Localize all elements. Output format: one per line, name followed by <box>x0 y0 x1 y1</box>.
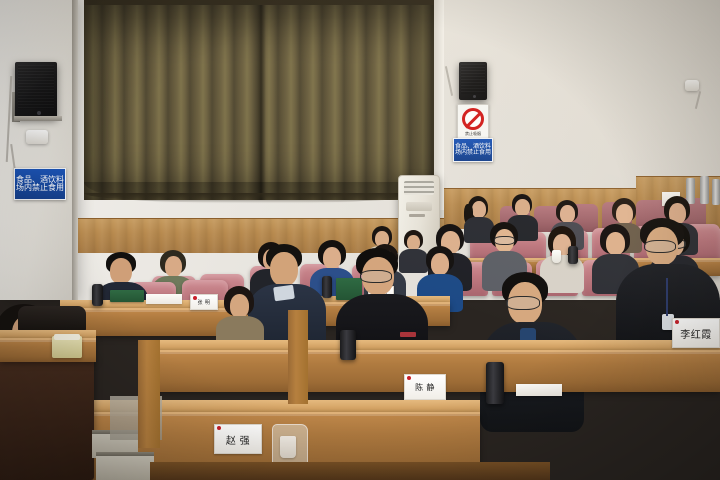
step-edge <box>96 452 154 456</box>
desk-edge-foreground <box>150 462 550 480</box>
head <box>270 252 298 286</box>
placard-emblem <box>193 296 197 300</box>
thermos-flask <box>686 178 695 204</box>
tissue-box-lid <box>54 334 80 340</box>
notepad <box>516 384 562 396</box>
lecture-hall-photo: 食品、酒饮料 场内禁止食用 禁止吸烟 食品、酒饮料 场内禁止食用 <box>0 0 720 480</box>
food-drink-prohibited-sign-left: 食品、酒饮料 场内禁止食用 <box>14 168 66 200</box>
placard-text: 张 明 <box>198 299 211 306</box>
head <box>616 204 633 224</box>
pillar-edge <box>72 0 78 300</box>
head <box>515 199 530 216</box>
desk-side-panel <box>138 340 160 448</box>
placard-emblem <box>217 426 221 430</box>
speaker-grill <box>461 64 485 94</box>
thermos-flask <box>700 176 709 204</box>
thermos-flask <box>340 330 356 360</box>
no-smoking-icon <box>462 108 484 130</box>
food-drink-prohibited-sign-right: 食品、酒饮料 场内禁止食用 <box>453 138 493 162</box>
name-placard-primary: 李红霞 <box>672 318 720 348</box>
head <box>230 294 249 318</box>
speaker-shelf-left <box>14 116 62 121</box>
floor-step <box>96 454 154 480</box>
lanyard-strap <box>666 278 668 316</box>
no-smoking-sign: 禁止吸烟 <box>457 104 489 139</box>
paper-cup <box>552 250 561 263</box>
eyeglasses <box>506 296 540 310</box>
thermos-flask <box>712 179 720 205</box>
wifi-access-point-right <box>685 80 699 91</box>
name-placard: 陈 静 <box>404 374 446 400</box>
desk-side-panel <box>288 310 308 404</box>
ac-logo <box>409 214 425 217</box>
no-smoking-caption: 禁止吸烟 <box>465 131 481 137</box>
head <box>560 205 575 223</box>
wall-speaker-right <box>459 62 487 100</box>
placard-emblem <box>407 376 411 380</box>
bench-back-dark <box>18 306 86 332</box>
paper-cup <box>280 436 296 458</box>
sign-line-2: 场内禁止食用 <box>16 184 64 192</box>
eyeglasses <box>644 240 676 253</box>
placard-text: 李红霞 <box>680 326 712 341</box>
eyeglasses <box>494 236 515 245</box>
ac-vent <box>404 181 434 195</box>
eyeglasses <box>360 270 392 283</box>
head <box>606 232 625 255</box>
name-placard: 赵 强 <box>214 424 262 454</box>
head <box>472 201 486 218</box>
sign-line-2: 场内禁止食用 <box>455 150 491 156</box>
placard-emblem <box>675 320 679 324</box>
wall-speaker-left <box>15 62 57 118</box>
name-placard: 张 明 <box>190 294 218 310</box>
head <box>165 256 182 277</box>
speaker-led <box>473 95 476 98</box>
green-folder <box>110 290 144 302</box>
jacket-logo <box>400 332 416 337</box>
torso <box>399 249 428 273</box>
curtain-rail <box>84 0 434 5</box>
head <box>323 247 341 269</box>
wall-panel-foreground <box>0 356 94 480</box>
speaker-led <box>37 111 41 115</box>
head <box>431 253 449 275</box>
thermos-flask <box>568 246 578 264</box>
curtain-seam <box>256 0 266 200</box>
shirt-collar <box>273 285 295 302</box>
thermos-flask <box>486 362 504 404</box>
ac-control-panel <box>406 202 432 211</box>
thermos-flask <box>92 284 103 306</box>
head <box>407 235 420 250</box>
thermos-flask <box>322 276 332 298</box>
head <box>110 258 132 284</box>
placard-text: 赵 强 <box>226 432 250 447</box>
speaker-grill <box>18 65 54 109</box>
wifi-access-point-left <box>26 130 48 144</box>
notepad <box>146 294 182 304</box>
placard-text: 陈 静 <box>415 382 435 393</box>
